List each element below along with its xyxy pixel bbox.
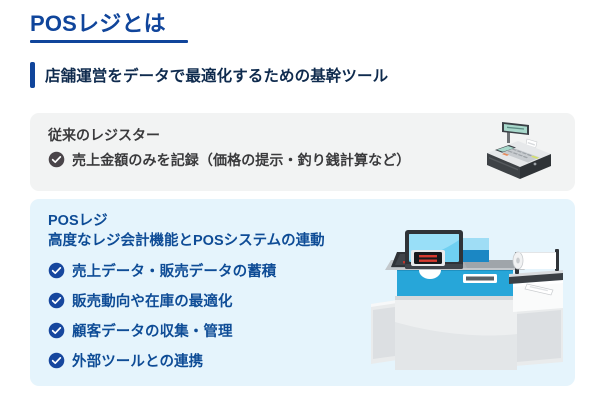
subtitle-text: 店舗運営をデータで最適化するための基幹ツール: [45, 64, 388, 86]
list-item: 売上データ・販売データの蓄積: [48, 260, 325, 281]
cash-register-illustration: [471, 119, 563, 189]
title-underline: [30, 40, 188, 43]
check-circle-icon: [48, 151, 65, 168]
pos-panel-heading: POSレジ: [48, 212, 325, 232]
list-item: 外部ツールとの連携: [48, 350, 325, 371]
legacy-register-panel: 従来のレジスター 売上金額のみを記録（価格の提示・釣り銭計算など）: [30, 113, 575, 191]
list-item-label: 外部ツールとの連携: [72, 350, 203, 371]
page-title: POSレジとは: [30, 12, 188, 36]
check-circle-icon: [48, 262, 65, 279]
pos-terminal-illustration: [367, 230, 567, 382]
list-item: 顧客データの収集・管理: [48, 320, 325, 341]
list-item-label: 顧客データの収集・管理: [72, 320, 233, 341]
legacy-panel-content: 従来のレジスター 売上金額のみを記録（価格の提示・釣り銭計算など）: [48, 126, 410, 170]
pos-register-panel: POSレジ 高度なレジ会計機能とPOSシステムの連動 売上データ・販売データの蓄…: [30, 199, 575, 386]
pos-panel-content: POSレジ 高度なレジ会計機能とPOSシステムの連動 売上データ・販売データの蓄…: [48, 212, 325, 371]
list-item: 販売動向や在庫の最適化: [48, 290, 325, 311]
pos-feature-list: 売上データ・販売データの蓄積 販売動向や在庫の最適化 顧客データの収集・管理: [48, 260, 325, 371]
list-item-label: 販売動向や在庫の最適化: [72, 290, 233, 311]
subtitle-accent-bar: [30, 62, 35, 88]
list-item-label: 売上金額のみを記録（価格の提示・釣り銭計算など）: [72, 150, 410, 170]
list-item: 売上金額のみを記録（価格の提示・釣り銭計算など）: [48, 150, 410, 170]
subtitle-block: 店舗運営をデータで最適化するための基幹ツール: [30, 62, 388, 88]
check-circle-icon: [48, 322, 65, 339]
legacy-panel-heading: 従来のレジスター: [48, 126, 410, 145]
check-circle-icon: [48, 292, 65, 309]
pos-panel-subheading: 高度なレジ会計機能とPOSシステムの連動: [48, 232, 325, 252]
legacy-feature-list: 売上金額のみを記録（価格の提示・釣り銭計算など）: [48, 150, 410, 170]
page-title-block: POSレジとは: [30, 12, 188, 43]
list-item-label: 売上データ・販売データの蓄積: [72, 260, 276, 281]
check-circle-icon: [48, 352, 65, 369]
